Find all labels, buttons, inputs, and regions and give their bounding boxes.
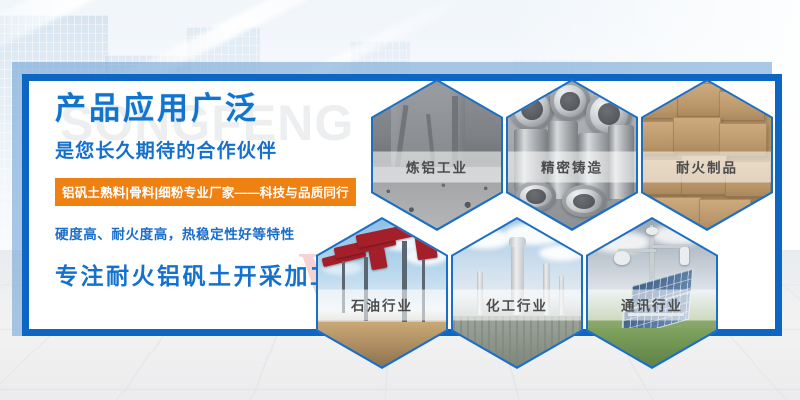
hexagon-label: 炼铝工业: [373, 151, 501, 182]
hexagon-card-refractory[interactable]: 耐火制品: [641, 79, 773, 231]
hexagon-label: 化工行业: [453, 289, 581, 320]
hexagon-label: 精密铸造: [508, 151, 636, 182]
hexagon-card-petroleum[interactable]: 石油行业: [316, 217, 448, 369]
banner-stage: SONGFENG W 产品应用广泛 是您长久期待的合作伙伴 铝矾土熟料|骨料|细…: [0, 0, 800, 400]
hexagon-label: 通讯行业: [588, 289, 716, 320]
hexagon-card-casting[interactable]: 精密铸造: [506, 79, 638, 231]
hexagon-label: 耐火制品: [643, 151, 771, 182]
hexagon-card-smelting[interactable]: 炼铝工业: [371, 79, 503, 231]
hexagon-card-telecom[interactable]: 通讯行业: [586, 217, 718, 369]
hexagon-card-chemical[interactable]: 化工行业: [451, 217, 583, 369]
hexagon-grid: 炼铝工业 精密铸造: [0, 0, 800, 400]
hexagon-label: 石油行业: [318, 289, 446, 320]
